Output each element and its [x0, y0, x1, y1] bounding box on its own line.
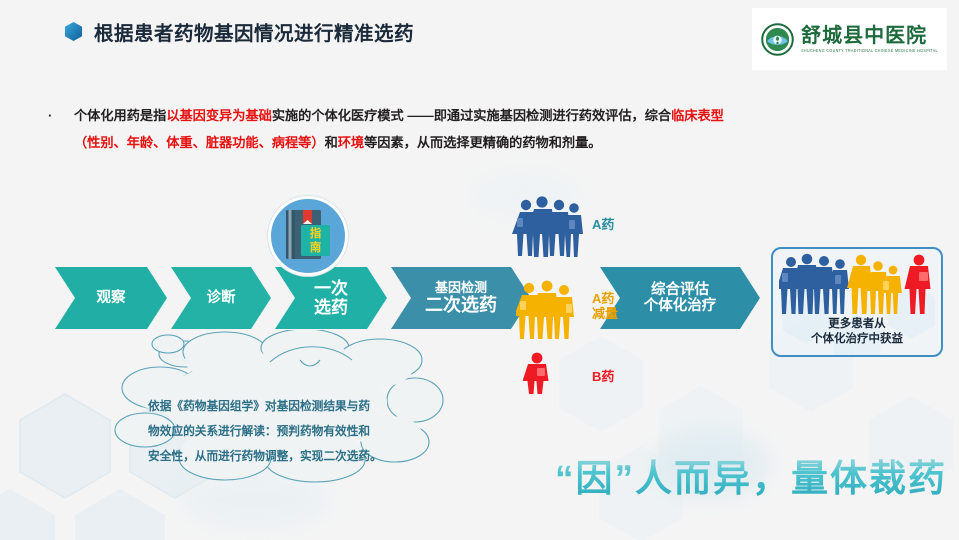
slide-canvas: 根据患者药物基因情况进行精准选药 舒城县中医院 SHUCHENG COUNTY …	[0, 0, 959, 540]
svg-text:指: 指	[310, 226, 322, 240]
benefit-box-caption: 更多患者从 个体化治疗中获益	[773, 317, 941, 347]
flow-step-first-selection[interactable]: 一次 选药	[275, 267, 387, 329]
flow-step-first-selection-label-1: 一次	[314, 279, 348, 298]
flow-step-diagnose[interactable]: 诊断	[171, 267, 271, 329]
para-l2-highlight-2: 环境	[338, 135, 364, 150]
svg-text:南: 南	[310, 240, 322, 254]
drug-label-b-line-1: B药	[592, 370, 614, 385]
para-l2-highlight-1: （性别、年龄、体重、脏器功能、病程等）	[74, 135, 325, 150]
para-l1-b: 实施的个体化医疗模式 ——即通过实施基因检测进行药效评估，综合	[272, 108, 671, 123]
paragraph-bullet: ·	[48, 102, 52, 129]
person-red-icon	[523, 352, 553, 394]
drug-label-a-reduced-line-1: A药	[592, 292, 618, 307]
cloud-callout-text: 依据《药物基因组学》对基因检测结果与药 物效应的关系进行解读：预判药物有效性和 …	[148, 394, 448, 469]
drug-label-a-reduced-line-2: 减量	[592, 307, 618, 322]
flow-step-gene-test[interactable]: 基因检测 二次选药	[391, 267, 531, 329]
logo-name-en: SHUCHENG COUNTY TRADITIONAL CHINESE MEDI…	[801, 48, 938, 53]
para-l1-highlight-2: 临床表型	[671, 108, 724, 123]
flow-step-diagnose-label: 诊断	[207, 290, 236, 306]
benefit-box: 更多患者从 个体化治疗中获益	[771, 247, 943, 357]
guideline-circle: 指 南	[268, 196, 348, 276]
flow-step-gene-test-label-2: 二次选药	[425, 295, 497, 315]
flow-step-comprehensive-eval-label-1: 综合评估	[644, 282, 717, 298]
flow-step-observe-label: 观察	[97, 290, 126, 306]
flow-step-gene-test-label-1: 基因检测	[425, 281, 497, 296]
paragraph-line-2: （性别、年龄、体重、脏器功能、病程等）和环境等因素，从而选择更精确的药物和剂量。	[46, 129, 926, 156]
para-l1-highlight-1: 以基因变异为基础	[166, 108, 272, 123]
slogan-text: “因”人而异，量体裁药	[555, 448, 947, 502]
drug-label-a-reduced: A药 减量	[592, 292, 618, 322]
drug-label-a: A药	[592, 218, 614, 233]
hospital-logo: 舒城县中医院 SHUCHENG COUNTY TRADITIONAL CHINE…	[752, 8, 947, 70]
drug-label-a-line-1: A药	[592, 218, 614, 233]
para-l1-a: 个体化用药是指	[74, 108, 166, 123]
mixed-people-group-icon	[779, 253, 939, 315]
hospital-seal-icon	[761, 23, 794, 56]
people-group-blue-icon	[512, 196, 584, 258]
benefit-caption-line-1: 更多患者从	[773, 317, 941, 332]
flow-step-first-selection-label-2: 选药	[314, 298, 348, 317]
slide-title-row: 根据患者药物基因情况进行精准选药	[64, 17, 414, 46]
guideline-book-icon: 指 南	[280, 207, 336, 265]
para-l2-b: 等因素，从而选择更精确的药物和剂量。	[364, 135, 601, 150]
benefit-caption-line-2: 个体化治疗中获益	[773, 332, 941, 347]
cloud-tail-icon	[268, 336, 358, 376]
hexagon-bullet-icon	[64, 21, 83, 42]
cloud-text-line-2: 物效应的关系进行解读：预判药物有效性和	[148, 419, 448, 444]
cloud-text-line-1: 依据《药物基因组学》对基因检测结果与药	[148, 394, 448, 419]
paragraph-line-1: 个体化用药是指以基因变异为基础实施的个体化医疗模式 ——即通过实施基因检测进行药…	[46, 102, 926, 129]
body-paragraph: · 个体化用药是指以基因变异为基础实施的个体化医疗模式 ——即通过实施基因检测进…	[46, 102, 926, 156]
flow-step-observe[interactable]: 观察	[55, 267, 167, 329]
flow-step-comprehensive-eval[interactable]: 综合评估 个体化治疗	[600, 267, 760, 329]
flow-step-comprehensive-eval-label-2: 个体化治疗	[644, 298, 717, 314]
para-l2-a: 和	[325, 135, 338, 150]
logo-name-cn: 舒城县中医院	[801, 26, 927, 47]
cloud-text-line-3: 安全性，从而进行药物调整，实现二次选药。	[148, 444, 448, 469]
page-title: 根据患者药物基因情况进行精准选药	[94, 17, 414, 46]
people-group-yellow-icon	[516, 278, 580, 340]
drug-label-b: B药	[592, 370, 614, 385]
